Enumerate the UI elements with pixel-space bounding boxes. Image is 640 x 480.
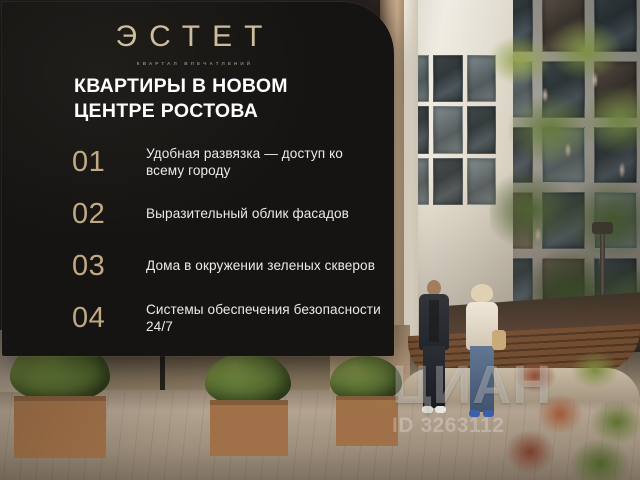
- person-jeans: [470, 346, 494, 412]
- planter-rim: [336, 396, 398, 400]
- wooden-planter: [336, 396, 398, 446]
- person-man: [415, 280, 455, 430]
- person-shirt: [429, 300, 439, 342]
- person-shoe: [469, 410, 480, 417]
- feature-text: Удобная развязка — доступ ко всему город…: [146, 145, 384, 180]
- person-shoe: [435, 406, 446, 413]
- feature-number: 02: [72, 200, 146, 229]
- person-woman: [462, 286, 504, 432]
- feature-number: 04: [72, 304, 146, 333]
- list-item: 01 Удобная развязка — доступ ко всему го…: [72, 136, 384, 188]
- feature-text: Дома в окружении зеленых скверов: [146, 257, 384, 274]
- window: [433, 55, 462, 102]
- flower-bed: [505, 352, 640, 480]
- planter-rim: [210, 400, 288, 405]
- planter-rim: [14, 396, 106, 401]
- feature-number: 01: [72, 148, 146, 177]
- lamp-head: [592, 222, 613, 234]
- person-hair: [471, 284, 493, 302]
- person-shoe: [483, 410, 494, 417]
- logo-tagline: КВАРТАЛ ВПЕЧАТЛЕНИЙ: [74, 61, 304, 66]
- feature-text: Системы обеспечения безопасности 24/7: [146, 301, 384, 336]
- wooden-planter: [210, 400, 288, 456]
- page-title: КВАРТИРЫ В НОВОМ ЦЕНТРЕ РОСТОВА: [74, 74, 374, 124]
- person-trousers: [423, 346, 445, 408]
- person-bag: [492, 330, 506, 350]
- feature-number: 03: [72, 252, 146, 281]
- wooden-planter: [14, 396, 106, 458]
- promo-card: ЭСТЕТ КВАРТАЛ ВПЕЧАТЛЕНИЙ КВАРТИРЫ В НОВ…: [2, 2, 394, 356]
- list-item: 03 Дома в окружении зеленых скверов: [72, 240, 384, 292]
- feature-text: Выразительный облик фасадов: [146, 205, 384, 222]
- logo-wordmark: ЭСТЕТ: [74, 22, 304, 52]
- list-item: 02 Выразительный облик фасадов: [72, 188, 384, 240]
- brand-logo: ЭСТЕТ КВАРТАЛ ВПЕЧАТЛЕНИЙ: [74, 22, 304, 66]
- feature-list: 01 Удобная развязка — доступ ко всему го…: [72, 136, 384, 344]
- person-shoe: [422, 406, 433, 413]
- list-item: 04 Системы обеспечения безопасности 24/7: [72, 292, 384, 344]
- window: [433, 106, 462, 153]
